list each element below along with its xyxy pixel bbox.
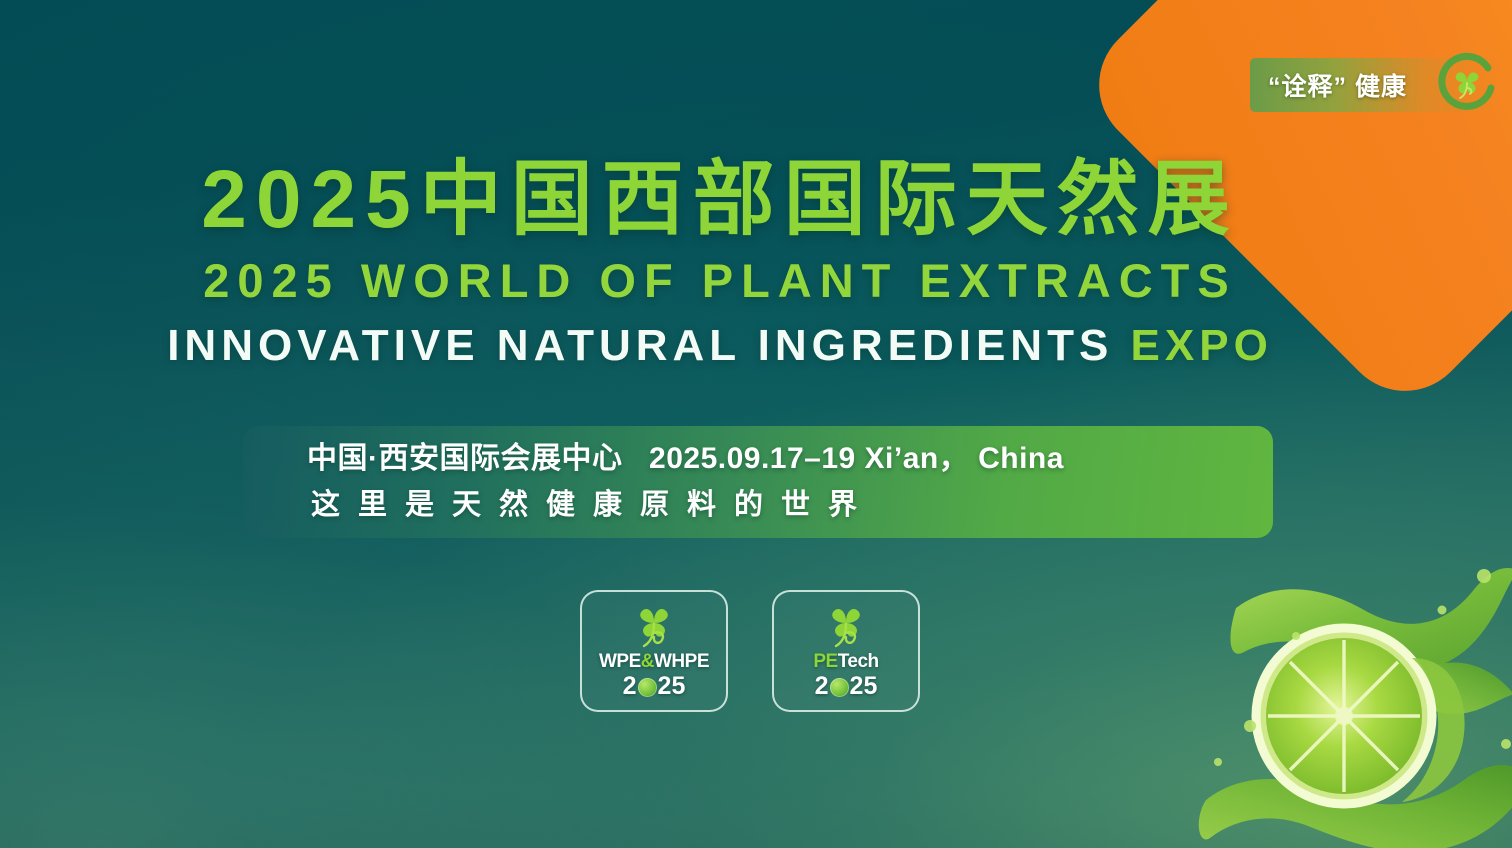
page-subtitle-english: INNOVATIVE NATURAL INGREDIENTS EXPO	[0, 318, 1440, 374]
badge-year-pe-tech: 225	[815, 672, 878, 701]
tagline-text: 这里是天然健康原料的世界	[307, 482, 1273, 528]
badge-name-part-0: PE	[813, 651, 837, 672]
badge-year-suffix: 25	[658, 672, 686, 701]
globe-icon	[638, 678, 657, 697]
badge-year-wpe-whpe: 225	[623, 672, 686, 701]
badge-name-part-1: &	[641, 651, 654, 672]
date-location-text: 2025.09.17–19 Xi’an， China	[649, 442, 1064, 475]
event-info-bar: 中国·西安国际会展中心 2025.09.17–19 Xi’an， China 这…	[243, 426, 1273, 538]
clover-sprout-icon	[626, 600, 682, 650]
badge-name-part-1: Tech	[838, 651, 879, 672]
logo-badge-row: WPE&WHPE 225 PETech 225	[580, 590, 920, 712]
badge-name-wpe-whpe: WPE&WHPE	[599, 651, 709, 673]
globe-icon	[830, 678, 849, 697]
title-block: 2025中国西部国际天然展 2025 WORLD OF PLANT EXTRAC…	[0, 152, 1440, 374]
lime-slice-splash-icon	[1196, 548, 1512, 848]
corner-badge-text: “诠释” 健康	[1268, 67, 1407, 103]
badge-year-prefix: 2	[815, 672, 829, 701]
subtitle-green-text: EXPO	[1131, 321, 1273, 370]
promotional-banner: “诠释” 健康 2025中国西部国际天然展 2025 WORLD OF PLAN…	[0, 0, 1512, 848]
badge-name-pe-tech: PETech	[813, 651, 878, 673]
page-title-chinese: 2025中国西部国际天然展	[0, 152, 1440, 248]
venue-text: 中国·西安国际会展中心	[307, 442, 623, 475]
badge-year-prefix: 2	[623, 672, 637, 701]
badge-name-part-2: WHPE	[654, 651, 709, 672]
clover-sprout-icon	[818, 600, 874, 650]
badge-name-part-0: WPE	[599, 651, 641, 672]
subtitle-white-text: INNOVATIVE NATURAL INGREDIENTS	[167, 321, 1113, 370]
clover-circle-icon	[1434, 52, 1500, 118]
info-venue-date-line: 中国·西安国际会展中心 2025.09.17–19 Xi’an， China	[307, 436, 1273, 482]
page-title-english: 2025 WORLD OF PLANT EXTRACTS	[0, 252, 1440, 310]
badge-year-suffix: 25	[850, 672, 878, 701]
badge-wpe-whpe[interactable]: WPE&WHPE 225	[580, 590, 728, 712]
badge-pe-tech[interactable]: PETech 225	[772, 590, 920, 712]
